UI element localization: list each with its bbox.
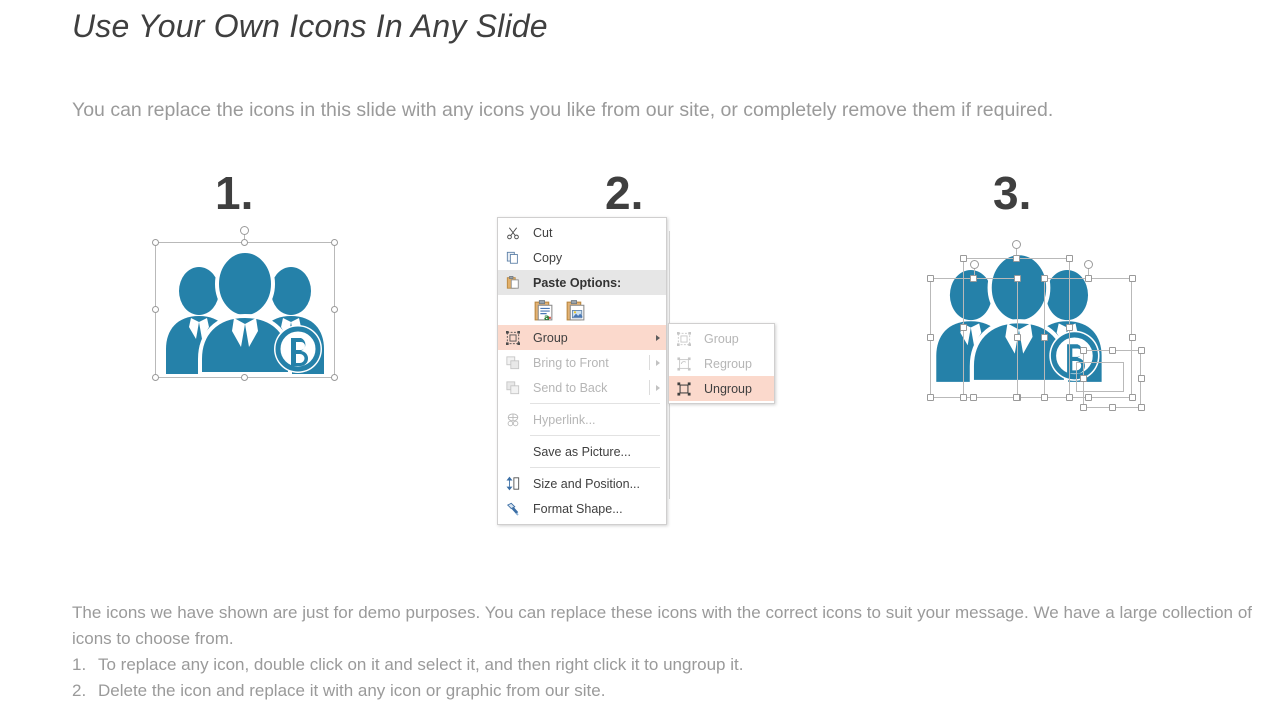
list-item-text: To replace any icon, double click on it … — [98, 652, 743, 678]
resize-handle[interactable] — [1109, 404, 1116, 411]
resize-handle[interactable] — [1080, 375, 1087, 382]
resize-handle-nw[interactable] — [152, 239, 159, 246]
scissors-icon — [502, 223, 524, 243]
resize-handle-e[interactable] — [331, 306, 338, 313]
outro-paragraph: The icons we have shown are just for dem… — [72, 600, 1252, 652]
group-icon — [502, 328, 524, 348]
step-number-3: 3. — [993, 170, 1031, 216]
submenu-item-group[interactable]: Group — [669, 326, 774, 351]
outro-list: 1. To replace any icon, double click on … — [72, 652, 1172, 704]
menu-item-bring-to-front[interactable]: Bring to Front — [498, 350, 666, 375]
rotate-handle[interactable] — [1012, 240, 1021, 249]
menu-item-label: Cut — [524, 226, 666, 240]
people-group-icon-step1[interactable] — [160, 248, 332, 374]
list-item: 2. Delete the icon and replace it with a… — [72, 678, 1172, 704]
chevron-right-icon — [650, 360, 666, 366]
resize-handle[interactable] — [970, 394, 977, 401]
submenu-item-ungroup[interactable]: Ungroup — [669, 376, 774, 401]
menu-item-copy[interactable]: Copy — [498, 245, 666, 270]
resize-handle[interactable] — [960, 394, 967, 401]
menu-item-label: Send to Back — [524, 381, 650, 395]
send-to-back-icon — [502, 378, 524, 398]
page-title: Use Your Own Icons In Any Slide — [72, 8, 548, 45]
regroup-icon — [673, 354, 695, 374]
chevron-right-icon — [650, 385, 666, 391]
menu-item-label: Format Shape... — [524, 502, 666, 516]
menu-item-label: Paste Options: — [524, 276, 666, 290]
resize-handle[interactable] — [1138, 375, 1145, 382]
menu-item-cut[interactable]: Cut — [498, 220, 666, 245]
resize-handle-se[interactable] — [331, 374, 338, 381]
list-item-number: 1. — [72, 652, 98, 678]
resize-handle[interactable] — [1041, 334, 1048, 341]
paste-keep-source-formatting-icon[interactable]: a — [532, 299, 555, 322]
submenu-item-label: Group — [695, 332, 774, 346]
paste-picture-icon[interactable] — [564, 299, 587, 322]
resize-handle[interactable] — [1080, 347, 1087, 354]
menu-item-send-to-back[interactable]: Send to Back — [498, 375, 666, 400]
size-position-icon — [502, 474, 524, 494]
bring-to-front-icon — [502, 353, 524, 373]
menu-item-hyperlink[interactable]: Hyperlink... — [498, 407, 666, 432]
resize-handle[interactable] — [1085, 394, 1092, 401]
resize-handle[interactable] — [1085, 275, 1092, 282]
list-item-number: 2. — [72, 678, 98, 704]
submenu-item-label: Ungroup — [695, 382, 774, 396]
resize-handle-sw[interactable] — [152, 374, 159, 381]
resize-handle[interactable] — [1014, 275, 1021, 282]
resize-handle[interactable] — [927, 275, 934, 282]
copy-pages-icon — [502, 248, 524, 268]
step-number-1: 1. — [215, 170, 253, 216]
resize-handle[interactable] — [1013, 394, 1020, 401]
menu-item-save-as-picture[interactable]: Save as Picture... — [498, 439, 666, 464]
resize-handle-s[interactable] — [241, 374, 248, 381]
chevron-right-icon — [650, 335, 666, 341]
hyperlink-icon — [502, 410, 524, 430]
step-number-2: 2. — [605, 170, 643, 216]
menu-separator — [530, 403, 660, 404]
slide-canvas: Use Your Own Icons In Any Slide You can … — [0, 0, 1280, 720]
resize-handle[interactable] — [1138, 404, 1145, 411]
menu-separator — [530, 435, 660, 436]
rotate-handle[interactable] — [1084, 260, 1093, 269]
menu-item-label: Size and Position... — [524, 477, 666, 491]
resize-handle[interactable] — [1013, 255, 1020, 262]
resize-handle[interactable] — [960, 255, 967, 262]
paste-options-row[interactable]: a — [498, 295, 666, 325]
intro-paragraph: You can replace the icons in this slide … — [72, 96, 1192, 125]
resize-handle-w[interactable] — [152, 306, 159, 313]
menu-item-label: Bring to Front — [524, 356, 650, 370]
list-item: 1. To replace any icon, double click on … — [72, 652, 1172, 678]
resize-handle[interactable] — [1129, 275, 1136, 282]
menu-item-label: Group — [524, 331, 650, 345]
group-icon — [673, 329, 695, 349]
resize-handle[interactable] — [927, 394, 934, 401]
resize-handle[interactable] — [927, 334, 934, 341]
resize-handle-ne[interactable] — [331, 239, 338, 246]
resize-handle[interactable] — [970, 275, 977, 282]
menu-item-group[interactable]: Group — [498, 325, 666, 350]
resize-handle[interactable] — [1041, 275, 1048, 282]
menu-item-label: Hyperlink... — [524, 413, 666, 427]
list-item-text: Delete the icon and replace it with any … — [98, 678, 605, 704]
rotate-handle[interactable] — [970, 260, 979, 269]
resize-handle[interactable] — [1066, 394, 1073, 401]
rotate-handle[interactable] — [240, 226, 249, 235]
resize-handle[interactable] — [1080, 404, 1087, 411]
group-submenu[interactable]: Group Regroup Ungroup — [668, 323, 775, 404]
menu-item-label: Save as Picture... — [524, 445, 666, 459]
resize-handle-n[interactable] — [241, 239, 248, 246]
context-menu[interactable]: Cut Copy Paste Options: — [497, 217, 667, 525]
resize-handle[interactable] — [1109, 347, 1116, 354]
menu-item-paste-options: Paste Options: — [498, 270, 666, 295]
submenu-item-label: Regroup — [695, 357, 774, 371]
resize-handle[interactable] — [1129, 394, 1136, 401]
clipboard-icon — [502, 273, 524, 293]
no-icon — [502, 442, 524, 462]
menu-item-format-shape[interactable]: Format Shape... — [498, 496, 666, 521]
menu-item-label: Copy — [524, 251, 666, 265]
resize-handle[interactable] — [1066, 324, 1073, 331]
ungroup-icon — [673, 379, 695, 399]
resize-handle[interactable] — [1138, 347, 1145, 354]
submenu-item-regroup[interactable]: Regroup — [669, 351, 774, 376]
menu-item-size-and-position[interactable]: Size and Position... — [498, 471, 666, 496]
menu-separator — [530, 467, 660, 468]
resize-handle[interactable] — [960, 324, 967, 331]
format-shape-icon — [502, 499, 524, 519]
resize-handle[interactable] — [1014, 334, 1021, 341]
resize-handle[interactable] — [1129, 334, 1136, 341]
resize-handle[interactable] — [1066, 255, 1073, 262]
resize-handle[interactable] — [1041, 394, 1048, 401]
